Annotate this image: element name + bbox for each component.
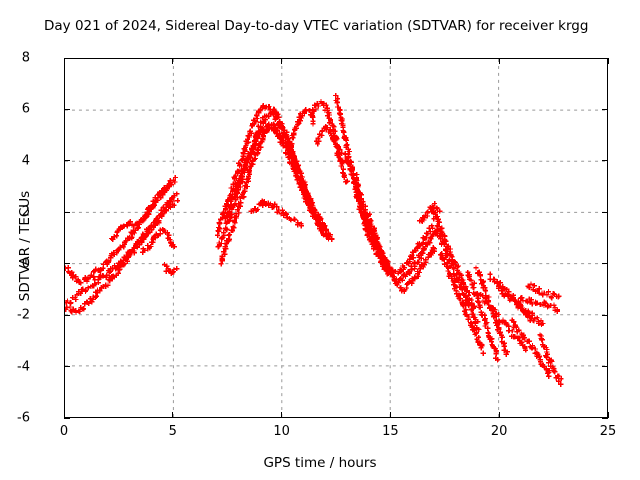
- y-tick-mark: [602, 263, 608, 264]
- page-title: Day 021 of 2024, Sidereal Day-to-day VTE…: [44, 18, 588, 34]
- x-tick-mark: [608, 412, 609, 418]
- y-tick-mark: [64, 315, 70, 316]
- x-tick-mark: [281, 412, 282, 418]
- y-tick-mark: [64, 366, 70, 367]
- x-tick-mark: [172, 412, 173, 418]
- y-tick-mark: [602, 109, 608, 110]
- y-tick-label: -6: [17, 411, 30, 426]
- plot-area: [64, 58, 608, 418]
- y-axis-label: SDTVAR / TECUs: [17, 136, 33, 356]
- y-tick-mark: [64, 212, 70, 213]
- x-tick-label: 20: [491, 424, 508, 439]
- x-tick-mark: [281, 58, 282, 64]
- x-tick-label: 25: [600, 424, 617, 439]
- scatter-series-sdtvar: [65, 59, 607, 417]
- x-tick-mark: [64, 412, 65, 418]
- y-tick-mark: [602, 160, 608, 161]
- y-tick-label: -4: [17, 359, 30, 374]
- x-axis-label: GPS time / hours: [0, 455, 640, 471]
- x-tick-mark: [499, 58, 500, 64]
- x-tick-mark: [390, 412, 391, 418]
- y-tick-mark: [64, 263, 70, 264]
- x-tick-label: 15: [382, 424, 399, 439]
- y-tick-label: -2: [17, 308, 30, 323]
- y-tick-label: 4: [22, 153, 30, 168]
- y-tick-mark: [64, 160, 70, 161]
- y-tick-mark: [64, 418, 70, 419]
- y-tick-mark: [64, 58, 70, 59]
- y-tick-mark: [602, 315, 608, 316]
- x-tick-label: 0: [60, 424, 68, 439]
- x-tick-mark: [64, 58, 65, 64]
- data-point-markers: [65, 93, 564, 387]
- y-tick-mark: [602, 212, 608, 213]
- x-tick-mark: [390, 58, 391, 64]
- x-tick-mark: [499, 412, 500, 418]
- x-tick-label: 5: [169, 424, 177, 439]
- x-tick-mark: [172, 58, 173, 64]
- y-tick-label: 8: [22, 51, 30, 66]
- y-tick-label: 2: [22, 205, 30, 220]
- x-tick-mark: [608, 58, 609, 64]
- y-tick-mark: [602, 366, 608, 367]
- y-tick-label: 6: [22, 102, 30, 117]
- x-tick-label: 10: [273, 424, 290, 439]
- y-tick-mark: [64, 109, 70, 110]
- y-tick-label: 0: [22, 256, 30, 271]
- chart-page: Day 021 of 2024, Sidereal Day-to-day VTE…: [0, 0, 640, 480]
